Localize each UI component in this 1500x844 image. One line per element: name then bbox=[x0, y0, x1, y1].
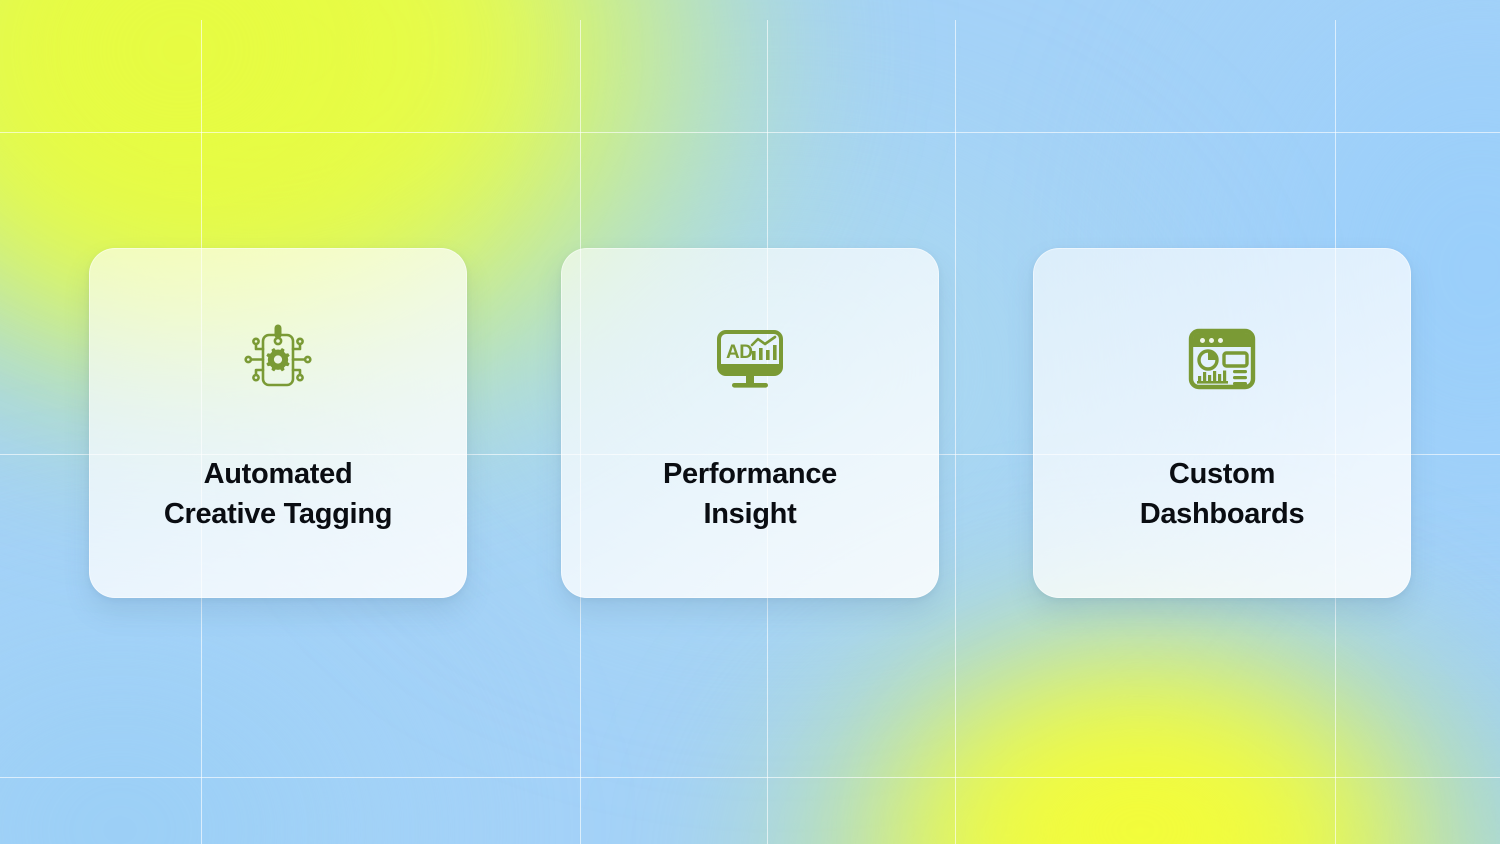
feature-card-performance-insight[interactable]: AD Performance Insight bbox=[561, 248, 939, 598]
dashboard-window-icon bbox=[1181, 318, 1263, 400]
monitor-ad-chart-icon: AD bbox=[709, 318, 791, 400]
gridline-horizontal bbox=[0, 777, 1500, 778]
feature-card-title: Performance Insight bbox=[561, 454, 939, 534]
feature-card-custom-dashboards[interactable]: Custom Dashboards bbox=[1033, 248, 1411, 598]
tag-gear-circuit-icon bbox=[237, 318, 319, 400]
svg-text:AD: AD bbox=[726, 342, 752, 363]
feature-cards-banner: Automated Creative Tagging AD bbox=[0, 0, 1500, 844]
feature-card-list: Automated Creative Tagging AD bbox=[0, 248, 1500, 598]
gridline-horizontal bbox=[0, 132, 1500, 133]
feature-card-title: Custom Dashboards bbox=[1033, 454, 1411, 534]
feature-card-automated-creative-tagging[interactable]: Automated Creative Tagging bbox=[89, 248, 467, 598]
feature-card-title: Automated Creative Tagging bbox=[89, 454, 467, 534]
